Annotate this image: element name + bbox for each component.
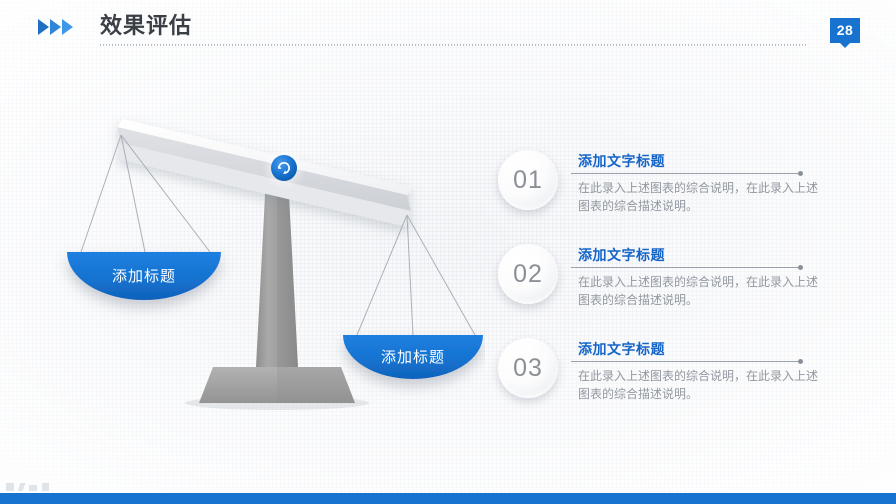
info-title-02: 添加文字标题 xyxy=(578,245,665,265)
info-number-01: 01 xyxy=(513,166,543,195)
info-number-badge-02: 02 xyxy=(498,244,558,304)
info-number-badge-01: 01 xyxy=(498,150,558,210)
pivot-circle xyxy=(271,155,297,181)
right-pan-label: 添加标题 xyxy=(381,349,445,366)
footer-icon-3 xyxy=(29,485,37,491)
footer-icon-group xyxy=(6,483,49,491)
balance-scale-illustration: 添加标题 添加标题 xyxy=(55,115,485,415)
info-body-02: 在此录入上述图表的综合说明，在此录入上述图表的综合描述说明。 xyxy=(578,273,818,309)
info-item-03[interactable]: 03 添加文字标题 在此录入上述图表的综合说明，在此录入上述图表的综合描述说明。 xyxy=(498,334,858,428)
info-title-03: 添加文字标题 xyxy=(578,339,665,359)
info-body-03: 在此录入上述图表的综合说明，在此录入上述图表的综合描述说明。 xyxy=(578,367,818,403)
info-item-02[interactable]: 02 添加文字标题 在此录入上述图表的综合说明，在此录入上述图表的综合描述说明。 xyxy=(498,240,858,334)
info-number-02: 02 xyxy=(513,260,543,289)
chevrons-right-icon xyxy=(38,19,73,35)
page-title: 效果评估 xyxy=(100,11,192,41)
info-number-badge-03: 03 xyxy=(498,338,558,398)
left-pan-label: 添加标题 xyxy=(112,268,176,285)
info-title-01: 添加文字标题 xyxy=(578,151,665,171)
header-divider xyxy=(100,44,806,46)
info-divider-01 xyxy=(571,173,799,174)
info-divider-03 xyxy=(571,361,799,362)
info-body-01: 在此录入上述图表的综合说明，在此录入上述图表的综合描述说明。 xyxy=(578,179,818,215)
info-number-03: 03 xyxy=(513,354,543,383)
slide-header: 效果评估 28 xyxy=(0,0,896,54)
info-list: 01 添加文字标题 在此录入上述图表的综合说明，在此录入上述图表的综合描述说明。… xyxy=(498,146,858,428)
footer-icon-4 xyxy=(42,483,49,491)
info-divider-02 xyxy=(571,267,799,268)
footer-bar xyxy=(0,493,896,504)
slide-canvas: 效果评估 28 xyxy=(0,0,896,504)
right-pan-strings xyxy=(357,215,475,335)
footer-icon-1 xyxy=(6,483,14,491)
info-item-01[interactable]: 01 添加文字标题 在此录入上述图表的综合说明，在此录入上述图表的综合描述说明。 xyxy=(498,146,858,240)
scale-stand xyxy=(199,177,355,403)
page-number-badge: 28 xyxy=(830,18,860,43)
footer-icon-2 xyxy=(18,483,26,491)
